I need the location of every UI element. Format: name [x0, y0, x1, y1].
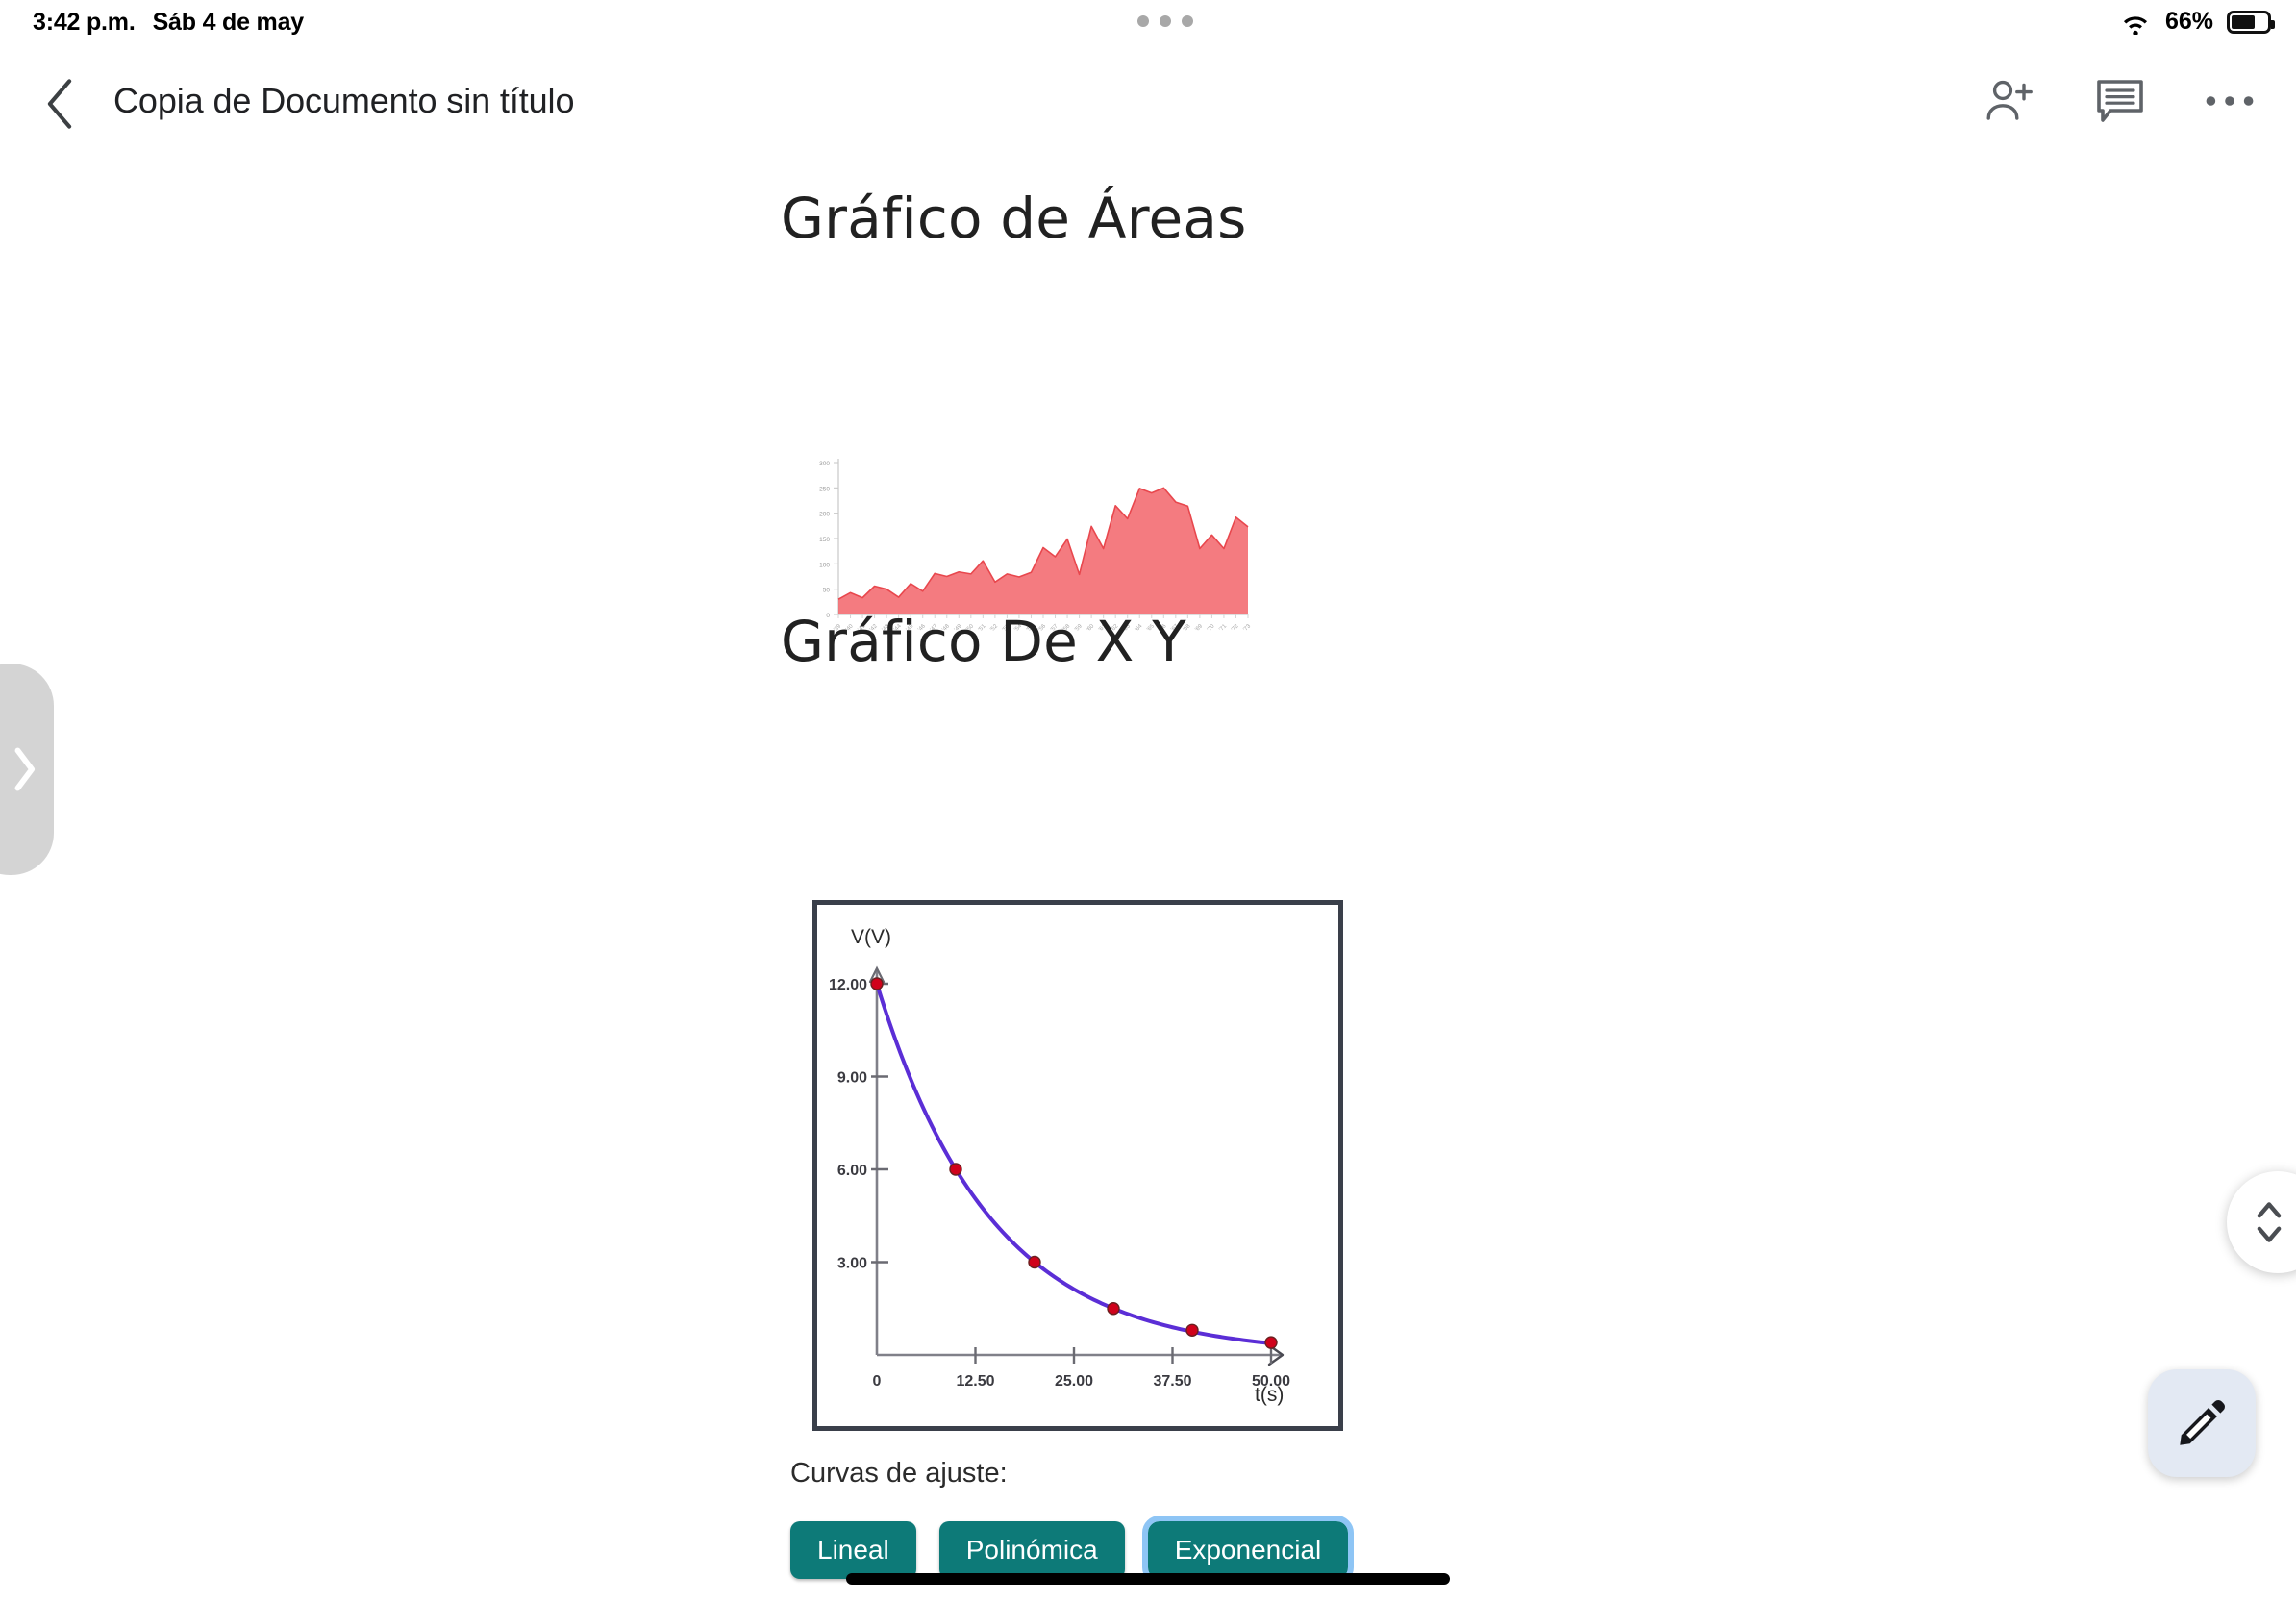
chevron-right-icon — [10, 744, 38, 794]
xy-y-axis-label: V(V) — [851, 926, 891, 948]
heading-grafico-de-xy: Gráfico De X Y — [781, 609, 1186, 674]
add-person-icon — [1985, 79, 2035, 123]
xy-data-point — [1108, 1303, 1119, 1315]
dot — [1160, 15, 1171, 27]
xy-y-tick-group: 3.006.009.0012.00 — [829, 977, 888, 1272]
status-bar-left: 3:42 p.m. Sáb 4 de may — [33, 9, 304, 37]
status-bar: 3:42 p.m. Sáb 4 de may 66% — [0, 0, 2296, 44]
xy-y-tick-label: 12.00 — [829, 977, 867, 993]
xy-fit-curve — [877, 984, 1271, 1343]
edit-fab-button[interactable] — [2148, 1369, 2256, 1477]
area-x-tick-label: '72 — [1231, 623, 1240, 633]
xy-data-point — [950, 1164, 961, 1175]
ipad-screen: 3:42 p.m. Sáb 4 de may 66% C — [0, 0, 2296, 1604]
fit-button-exponencial[interactable]: Exponencial — [1148, 1521, 1349, 1579]
xy-chart: V(V) t(s) 3.006.009.0012.00 012.5025.003… — [812, 900, 1343, 1431]
area-y-tick-label: 150 — [819, 537, 830, 543]
xy-x-tick-label: 50.00 — [1252, 1373, 1290, 1390]
xy-data-point — [1265, 1337, 1277, 1348]
curvas-de-ajuste-label: Curvas de ajuste: — [790, 1458, 1008, 1490]
fit-button-lineal[interactable]: Lineal — [790, 1521, 916, 1579]
pencil-icon — [2174, 1395, 2230, 1451]
document-title[interactable]: Copia de Documento sin título — [113, 81, 574, 121]
more-options-button[interactable] — [2202, 73, 2258, 129]
dot — [1137, 15, 1149, 27]
area-x-tick-label: '69 — [1194, 623, 1204, 633]
heading-grafico-de-areas: Gráfico de Áreas — [781, 186, 1247, 251]
xy-y-tick-label: 6.00 — [837, 1163, 867, 1179]
back-button[interactable] — [29, 73, 90, 135]
xy-y-tick-label: 9.00 — [837, 1070, 867, 1087]
dot — [1182, 15, 1193, 27]
comment-icon — [2095, 78, 2145, 124]
xy-x-tick-label: 12.50 — [956, 1373, 994, 1390]
status-time: 3:42 p.m. — [33, 9, 136, 37]
add-person-button[interactable] — [1983, 73, 2038, 129]
document-canvas[interactable]: Gráfico de Áreas 050100150200250300 '39'… — [0, 164, 2296, 1604]
status-date: Sáb 4 de may — [153, 9, 304, 37]
xy-x-tick-label: 25.00 — [1055, 1373, 1093, 1390]
xy-data-point-group — [871, 978, 1277, 1348]
xy-x-tick-label: 37.50 — [1153, 1373, 1191, 1390]
xy-y-tick-label: 3.00 — [837, 1256, 867, 1272]
scroll-up-down-icon — [2253, 1196, 2285, 1248]
battery-fill — [2232, 15, 2255, 29]
app-bar-actions — [1983, 73, 2258, 129]
wifi-icon — [2119, 10, 2152, 35]
area-x-tick-label: '70 — [1207, 623, 1216, 633]
document-page: Gráfico de Áreas 050100150200250300 '39'… — [0, 164, 2296, 1604]
area-y-tick-label: 200 — [819, 512, 830, 518]
area-x-tick-label: '71 — [1218, 623, 1228, 633]
area-y-tick-label: 300 — [819, 461, 830, 467]
area-y-tick-group: 050100150200250300 — [819, 461, 838, 619]
status-bar-right: 66% — [2119, 8, 2271, 36]
area-y-tick-label: 100 — [819, 562, 830, 568]
comments-button[interactable] — [2092, 73, 2148, 129]
xy-data-point — [1186, 1324, 1198, 1336]
area-x-tick-label: '73 — [1242, 623, 1252, 633]
xy-data-point — [871, 978, 883, 990]
fit-button-polinmica[interactable]: Polinómica — [939, 1521, 1125, 1579]
home-indicator — [846, 1573, 1450, 1585]
app-bar: Copia de Documento sin título — [0, 44, 2296, 163]
more-options-icon — [2205, 91, 2255, 111]
area-y-tick-label: 50 — [823, 588, 831, 594]
xy-x-tick-label: 0 — [873, 1373, 882, 1390]
multitask-dots-icon[interactable] — [1137, 15, 1193, 27]
xy-x-tick-group: 012.5025.0037.5050.00 — [873, 1347, 1291, 1390]
chevron-left-icon — [43, 78, 76, 130]
outline-drawer-handle[interactable] — [0, 664, 54, 875]
battery-percent: 66% — [2165, 8, 2213, 36]
battery-icon — [2227, 11, 2271, 34]
xy-data-point — [1029, 1257, 1040, 1268]
fit-curve-button-group: LinealPolinómicaExponencial — [790, 1521, 1348, 1579]
area-y-tick-label: 250 — [819, 486, 830, 492]
xy-chart-svg: V(V) t(s) 3.006.009.0012.00 012.5025.003… — [817, 905, 1338, 1426]
